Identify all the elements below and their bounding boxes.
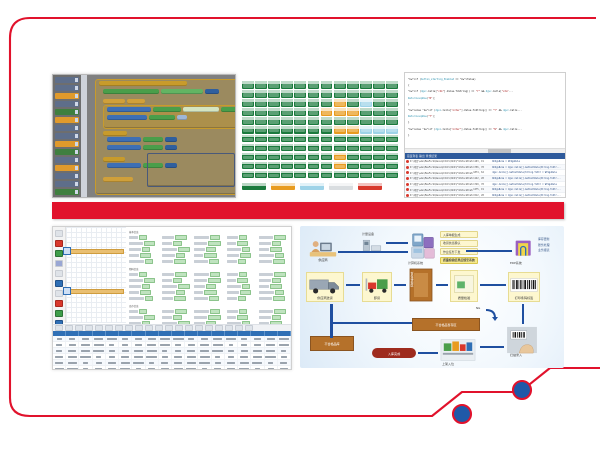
bin-cell[interactable] xyxy=(308,162,320,170)
data-grid-cell[interactable] xyxy=(212,336,225,341)
palette-block-6[interactable] xyxy=(55,117,79,123)
data-grid-cell[interactable] xyxy=(198,354,211,359)
field-value[interactable] xyxy=(273,296,285,301)
field-value[interactable] xyxy=(175,235,187,240)
block-join-text[interactable] xyxy=(183,107,219,112)
field-value[interactable] xyxy=(206,284,216,289)
data-grid-cell[interactable] xyxy=(106,348,119,353)
data-grid-cell[interactable] xyxy=(132,348,145,353)
bin-cell[interactable] xyxy=(373,108,385,116)
data-grid-cell[interactable] xyxy=(225,342,238,347)
block-socket[interactable] xyxy=(177,115,187,120)
bin-cell[interactable] xyxy=(360,126,372,134)
bin-cell[interactable] xyxy=(294,171,306,179)
field-value[interactable] xyxy=(242,284,250,289)
field-value[interactable] xyxy=(275,290,284,295)
field-value[interactable] xyxy=(178,284,190,289)
output-panel[interactable]: 错误列表 输出 查找结果 D:\项目\wms\MesForm\ReceiptIn… xyxy=(405,153,565,197)
bin-cell[interactable] xyxy=(321,108,333,116)
field-value[interactable] xyxy=(239,309,247,314)
data-grid-cell[interactable] xyxy=(225,354,238,359)
data-grid-cell[interactable] xyxy=(159,348,172,353)
bin-cell[interactable] xyxy=(308,90,320,98)
data-grid-cell[interactable] xyxy=(79,348,92,353)
data-grid-cell[interactable] xyxy=(251,366,264,370)
bin-cell[interactable] xyxy=(294,81,306,89)
palette-block-1[interactable] xyxy=(55,77,79,83)
bin-cell[interactable] xyxy=(268,126,280,134)
field-value[interactable] xyxy=(140,290,151,295)
bin-cell[interactable] xyxy=(347,108,359,116)
data-grid-cell[interactable] xyxy=(265,354,278,359)
bin-cell[interactable] xyxy=(255,108,267,116)
bin-cell[interactable] xyxy=(255,90,267,98)
data-grid-cell[interactable] xyxy=(185,348,198,353)
data-grid-cell[interactable] xyxy=(225,336,238,341)
bin-cell[interactable] xyxy=(360,108,372,116)
bin-cell[interactable] xyxy=(294,90,306,98)
field-value[interactable] xyxy=(210,309,220,314)
field-value[interactable] xyxy=(274,309,286,314)
bin-cell[interactable] xyxy=(373,153,385,161)
bin-cell[interactable] xyxy=(386,171,398,179)
palette-block-8[interactable] xyxy=(55,133,79,139)
data-grid-cell[interactable] xyxy=(212,366,225,370)
field-value[interactable] xyxy=(173,241,182,246)
bin-cell[interactable] xyxy=(386,162,398,170)
field-value[interactable] xyxy=(270,284,282,289)
bin-cell[interactable] xyxy=(281,108,293,116)
data-grid-cell[interactable] xyxy=(119,342,132,347)
bin-cell[interactable] xyxy=(334,171,346,179)
field-value[interactable] xyxy=(139,272,147,277)
bin-cell[interactable] xyxy=(321,144,333,152)
data-grid-cell[interactable] xyxy=(198,360,211,365)
data-grid-cell[interactable] xyxy=(132,354,145,359)
field-value[interactable] xyxy=(208,241,221,246)
field-value[interactable] xyxy=(145,259,153,264)
data-grid-cell[interactable] xyxy=(53,366,66,370)
bin-cell[interactable] xyxy=(347,135,359,143)
data-grid-cell[interactable] xyxy=(119,354,132,359)
bin-cell[interactable] xyxy=(308,144,320,152)
data-grid-cell[interactable] xyxy=(132,336,145,341)
data-grid-cell[interactable] xyxy=(172,342,185,347)
palette-block-2[interactable] xyxy=(55,85,79,91)
data-grid-cell[interactable] xyxy=(119,336,132,341)
bin-cell[interactable] xyxy=(373,81,385,89)
data-grid-cell[interactable] xyxy=(172,366,185,370)
data-grid-cell[interactable] xyxy=(198,348,211,353)
bin-cell[interactable] xyxy=(255,171,267,179)
data-grid-cell[interactable] xyxy=(106,354,119,359)
data-grid-cell[interactable] xyxy=(185,354,198,359)
field-value[interactable] xyxy=(142,284,150,289)
data-grid-cell[interactable] xyxy=(146,336,159,341)
block-set-clock[interactable] xyxy=(107,145,141,150)
data-grid-cell[interactable] xyxy=(198,366,211,370)
grid-toolbar[interactable] xyxy=(53,324,291,331)
bin-cell[interactable] xyxy=(386,144,398,152)
block-call-web-get[interactable] xyxy=(107,107,151,112)
bin-cell[interactable] xyxy=(308,108,320,116)
data-grid-cell[interactable] xyxy=(278,360,291,365)
bin-cell[interactable] xyxy=(321,117,333,125)
block-when-timer[interactable] xyxy=(103,157,125,162)
field-value[interactable] xyxy=(237,241,248,246)
bin-cell[interactable] xyxy=(268,90,280,98)
bin-cell[interactable] xyxy=(281,144,293,152)
bin-cell[interactable] xyxy=(347,162,359,170)
field-value[interactable] xyxy=(178,247,190,252)
bin-cell[interactable] xyxy=(334,81,346,89)
field-value[interactable] xyxy=(204,290,217,295)
bin-cell[interactable] xyxy=(268,99,280,107)
palette-block-7[interactable] xyxy=(55,125,79,131)
bin-cell[interactable] xyxy=(242,144,254,152)
field-value[interactable] xyxy=(140,253,151,258)
bin-cell[interactable] xyxy=(321,90,333,98)
bin-cell[interactable] xyxy=(386,108,398,116)
blocks-canvas[interactable] xyxy=(87,75,235,197)
bin-cell[interactable] xyxy=(360,117,372,125)
data-grid-cell[interactable] xyxy=(238,348,251,353)
bin-cell[interactable] xyxy=(268,117,280,125)
bin-cell[interactable] xyxy=(321,81,333,89)
bin-cell[interactable] xyxy=(242,117,254,125)
data-grid-cell[interactable] xyxy=(185,336,198,341)
field-value[interactable] xyxy=(239,235,247,240)
bin-cell[interactable] xyxy=(242,162,254,170)
bin-cell[interactable] xyxy=(242,126,254,134)
palette-block-10[interactable] xyxy=(55,149,79,155)
block-number-1[interactable] xyxy=(205,89,219,94)
data-grid-cell[interactable] xyxy=(212,342,225,347)
data-grid-cell[interactable] xyxy=(79,336,92,341)
data-grid-cell[interactable] xyxy=(225,366,238,370)
output-rows[interactable]: D:\项目\wms\MesForm\ReceiptInfo\WCS\FrmSto… xyxy=(405,159,565,198)
bin-cell[interactable] xyxy=(308,135,320,143)
bin-cell[interactable] xyxy=(281,117,293,125)
bin-cell[interactable] xyxy=(386,126,398,134)
bin-cell[interactable] xyxy=(360,99,372,107)
bin-cell[interactable] xyxy=(334,135,346,143)
data-grid-cell[interactable] xyxy=(212,354,225,359)
data-grid-cell[interactable] xyxy=(278,342,291,347)
bin-cell[interactable] xyxy=(242,171,254,179)
data-grid-cell[interactable] xyxy=(238,366,251,370)
bin-cell[interactable] xyxy=(294,162,306,170)
data-grid-cell[interactable] xyxy=(66,342,79,347)
bin-cell[interactable] xyxy=(255,162,267,170)
bin-cell[interactable] xyxy=(386,153,398,161)
field-value[interactable] xyxy=(176,253,185,258)
data-grid-cell[interactable] xyxy=(278,336,291,341)
block-true-value[interactable] xyxy=(143,145,163,150)
data-grid-cell[interactable] xyxy=(66,348,79,353)
data-grid-cell[interactable] xyxy=(172,354,185,359)
bin-cell[interactable] xyxy=(373,99,385,107)
data-grid-cell[interactable] xyxy=(132,360,145,365)
designer-tool-button-1[interactable] xyxy=(55,230,63,237)
data-grid-cell[interactable] xyxy=(106,366,119,370)
data-grid-cell[interactable] xyxy=(159,354,172,359)
field-value[interactable] xyxy=(206,247,216,252)
bin-cell[interactable] xyxy=(360,162,372,170)
field-value[interactable] xyxy=(176,290,185,295)
panel-erp-form[interactable]: 基本信息物料信息库存信息 xyxy=(52,226,292,370)
bin-cell[interactable] xyxy=(347,144,359,152)
designer-toolbar[interactable] xyxy=(53,227,66,323)
bin-cell[interactable] xyxy=(268,81,280,89)
bin-cell[interactable] xyxy=(255,144,267,152)
designer-tool-button-9[interactable] xyxy=(55,310,63,317)
data-grid-cell[interactable] xyxy=(185,342,198,347)
block-set-spinner[interactable] xyxy=(107,137,141,142)
bin-cell[interactable] xyxy=(321,99,333,107)
data-grid-cell[interactable] xyxy=(66,360,79,365)
form-field-panels[interactable]: 基本信息物料信息库存信息 xyxy=(128,228,290,323)
bin-cell[interactable] xyxy=(242,108,254,116)
bin-cell[interactable] xyxy=(268,171,280,179)
data-grid-cell[interactable] xyxy=(238,360,251,365)
bin-cell[interactable] xyxy=(294,126,306,134)
bin-cell[interactable] xyxy=(321,171,333,179)
data-grid-cell[interactable] xyxy=(119,348,132,353)
data-grid-cell[interactable] xyxy=(251,336,264,341)
designer-tool-button-8[interactable] xyxy=(55,300,63,307)
bin-cell[interactable] xyxy=(255,117,267,125)
palette-block-11[interactable] xyxy=(55,157,79,163)
block-index[interactable] xyxy=(165,137,177,142)
data-grid-cell[interactable] xyxy=(265,342,278,347)
field-value[interactable] xyxy=(240,253,251,258)
block-set-label-text[interactable] xyxy=(107,115,147,120)
data-grid-cell[interactable] xyxy=(146,348,159,353)
data-grid-cell[interactable] xyxy=(251,342,264,347)
bin-cell[interactable] xyxy=(281,81,293,89)
field-value[interactable] xyxy=(272,315,281,320)
bin-cell[interactable] xyxy=(334,99,346,107)
field-value[interactable] xyxy=(173,315,182,320)
bin-cell[interactable] xyxy=(242,90,254,98)
bin-cell[interactable] xyxy=(334,162,346,170)
field-value[interactable] xyxy=(204,253,217,258)
data-grid-cell[interactable] xyxy=(53,342,66,347)
bin-cell[interactable] xyxy=(321,162,333,170)
palette-block-5[interactable] xyxy=(55,109,79,115)
bin-cell[interactable] xyxy=(386,90,398,98)
data-grid-cell[interactable] xyxy=(185,360,198,365)
data-grid-cell[interactable] xyxy=(119,366,132,370)
data-grid-cell[interactable] xyxy=(172,336,185,341)
blocks-palette[interactable] xyxy=(53,75,81,197)
field-value[interactable] xyxy=(144,278,155,283)
data-grid-cell[interactable] xyxy=(251,360,264,365)
field-value[interactable] xyxy=(210,272,220,277)
field-value[interactable] xyxy=(173,278,182,283)
data-grid-cell[interactable] xyxy=(53,348,66,353)
bin-cell[interactable] xyxy=(386,135,398,143)
bin-cell[interactable] xyxy=(294,99,306,107)
designer-tool-button-2[interactable] xyxy=(55,240,63,247)
block-then[interactable] xyxy=(127,99,145,104)
data-grid-cell[interactable] xyxy=(53,354,66,359)
field-value[interactable] xyxy=(270,247,282,252)
data-grid-cell[interactable] xyxy=(185,366,198,370)
bin-cell[interactable] xyxy=(334,126,346,134)
panel-code-editor[interactable]: "kw">if (button_starting_Enabled == "kw"… xyxy=(404,72,566,198)
bin-cell[interactable] xyxy=(242,153,254,161)
data-grid-cell[interactable] xyxy=(278,366,291,370)
bin-cell[interactable] xyxy=(281,126,293,134)
block-global-serverurl[interactable] xyxy=(153,107,181,112)
bin-cell[interactable] xyxy=(360,171,372,179)
field-value[interactable] xyxy=(174,296,186,301)
designer-band-2[interactable] xyxy=(68,289,124,294)
bin-cell[interactable] xyxy=(281,162,293,170)
bin-cell[interactable] xyxy=(294,135,306,143)
field-value[interactable] xyxy=(275,253,284,258)
data-grid-cell[interactable] xyxy=(146,342,159,347)
data-grid-cell[interactable] xyxy=(265,360,278,365)
bin-cell[interactable] xyxy=(360,135,372,143)
data-grid-cell[interactable] xyxy=(238,354,251,359)
bin-cell[interactable] xyxy=(347,81,359,89)
palette-block-4[interactable] xyxy=(55,101,79,107)
field-value[interactable] xyxy=(274,235,286,240)
data-grid-cell[interactable] xyxy=(93,354,106,359)
panel-bin-grid[interactable] xyxy=(242,72,398,196)
palette-block-13[interactable] xyxy=(55,173,79,179)
bin-cell[interactable] xyxy=(255,81,267,89)
palette-block-9[interactable] xyxy=(55,141,79,147)
field-value[interactable] xyxy=(273,259,285,264)
bin-cell[interactable] xyxy=(294,144,306,152)
palette-block-15[interactable] xyxy=(55,189,79,195)
data-grid-cell[interactable] xyxy=(79,354,92,359)
field-value[interactable] xyxy=(142,247,150,252)
block-if[interactable] xyxy=(103,99,125,104)
bin-cell[interactable] xyxy=(281,99,293,107)
bin-cell[interactable] xyxy=(360,153,372,161)
palette-block-12[interactable] xyxy=(55,165,79,171)
data-grid-cell[interactable] xyxy=(79,360,92,365)
bin-cell[interactable] xyxy=(347,90,359,98)
block-number-2[interactable] xyxy=(165,145,177,150)
data-grid-cell[interactable] xyxy=(146,366,159,370)
designer-tool-button-3[interactable] xyxy=(55,250,63,257)
field-value[interactable] xyxy=(238,259,246,264)
field-value[interactable] xyxy=(242,247,250,252)
bin-cell[interactable] xyxy=(268,135,280,143)
data-grid-cell[interactable] xyxy=(93,366,106,370)
data-grid-cell[interactable] xyxy=(132,366,145,370)
palette-block-14[interactable] xyxy=(55,181,79,187)
bin-cell[interactable] xyxy=(268,153,280,161)
block-get-response[interactable] xyxy=(149,115,175,120)
field-value[interactable] xyxy=(144,241,155,246)
bin-cell[interactable] xyxy=(386,99,398,107)
bin-grid[interactable] xyxy=(242,72,398,178)
bin-cell[interactable] xyxy=(347,171,359,179)
data-grid-row[interactable] xyxy=(53,366,291,370)
data-grid-cell[interactable] xyxy=(93,336,106,341)
bin-cell[interactable] xyxy=(334,153,346,161)
form-design-surface[interactable] xyxy=(66,227,126,323)
bin-cell[interactable] xyxy=(321,135,333,143)
bin-cell[interactable] xyxy=(321,126,333,134)
bin-cell[interactable] xyxy=(373,135,385,143)
data-grid-cell[interactable] xyxy=(146,354,159,359)
bin-cell[interactable] xyxy=(281,171,293,179)
field-value[interactable] xyxy=(208,315,221,320)
data-grid-cell[interactable] xyxy=(198,342,211,347)
data-grid-cell[interactable] xyxy=(79,366,92,370)
field-value[interactable] xyxy=(239,272,247,277)
bin-cell[interactable] xyxy=(373,90,385,98)
data-grid-cell[interactable] xyxy=(251,354,264,359)
palette-block-3[interactable] xyxy=(55,93,79,99)
data-grid-cell[interactable] xyxy=(53,336,66,341)
data-grid-cell[interactable] xyxy=(212,348,225,353)
data-grid-cell[interactable] xyxy=(278,354,291,359)
bin-cell[interactable] xyxy=(334,108,346,116)
designer-band-1[interactable] xyxy=(68,249,124,254)
bin-cell[interactable] xyxy=(308,81,320,89)
bin-cell[interactable] xyxy=(360,90,372,98)
bin-cell[interactable] xyxy=(242,135,254,143)
field-value[interactable] xyxy=(175,272,187,277)
data-grid-cell[interactable] xyxy=(93,342,106,347)
bin-cell[interactable] xyxy=(321,153,333,161)
output-row[interactable]: D:\项目\wms\MesForm\ReceiptInfo\WCS\FrmSto… xyxy=(405,193,565,198)
designer-tool-button-5[interactable] xyxy=(55,270,63,277)
bin-cell[interactable] xyxy=(347,99,359,107)
bin-cell[interactable] xyxy=(281,90,293,98)
data-grid-cell[interactable] xyxy=(93,360,106,365)
block-set-elements[interactable] xyxy=(103,89,159,94)
data-grid-cell[interactable] xyxy=(106,342,119,347)
designer-tool-button-7[interactable] xyxy=(55,290,63,297)
bin-cell[interactable] xyxy=(386,81,398,89)
data-grid-cell[interactable] xyxy=(66,336,79,341)
data-grid-cell[interactable] xyxy=(265,348,278,353)
block-text-segment[interactable] xyxy=(221,107,236,112)
bin-cell[interactable] xyxy=(294,153,306,161)
data-grid-cell[interactable] xyxy=(238,336,251,341)
field-value[interactable] xyxy=(174,259,186,264)
data-grid-cell[interactable] xyxy=(159,360,172,365)
block-get-item[interactable] xyxy=(143,137,163,142)
data-grid-cell[interactable] xyxy=(225,360,238,365)
field-value[interactable] xyxy=(238,296,246,301)
bin-cell[interactable] xyxy=(360,81,372,89)
data-grid-cell[interactable] xyxy=(225,348,238,353)
block-make-list[interactable] xyxy=(161,89,203,94)
data-grid-cell[interactable] xyxy=(278,348,291,353)
data-grid-cell[interactable] xyxy=(159,336,172,341)
bin-cell[interactable] xyxy=(347,117,359,125)
code-text-area[interactable]: "kw">if (button_starting_Enabled == "kw"… xyxy=(405,73,565,147)
bin-cell[interactable] xyxy=(308,117,320,125)
field-value[interactable] xyxy=(175,309,187,314)
data-grid-cell[interactable] xyxy=(198,336,211,341)
bin-cell[interactable] xyxy=(255,126,267,134)
bin-cell[interactable] xyxy=(334,144,346,152)
field-value[interactable] xyxy=(240,290,251,295)
data-grid-cell[interactable] xyxy=(159,342,172,347)
